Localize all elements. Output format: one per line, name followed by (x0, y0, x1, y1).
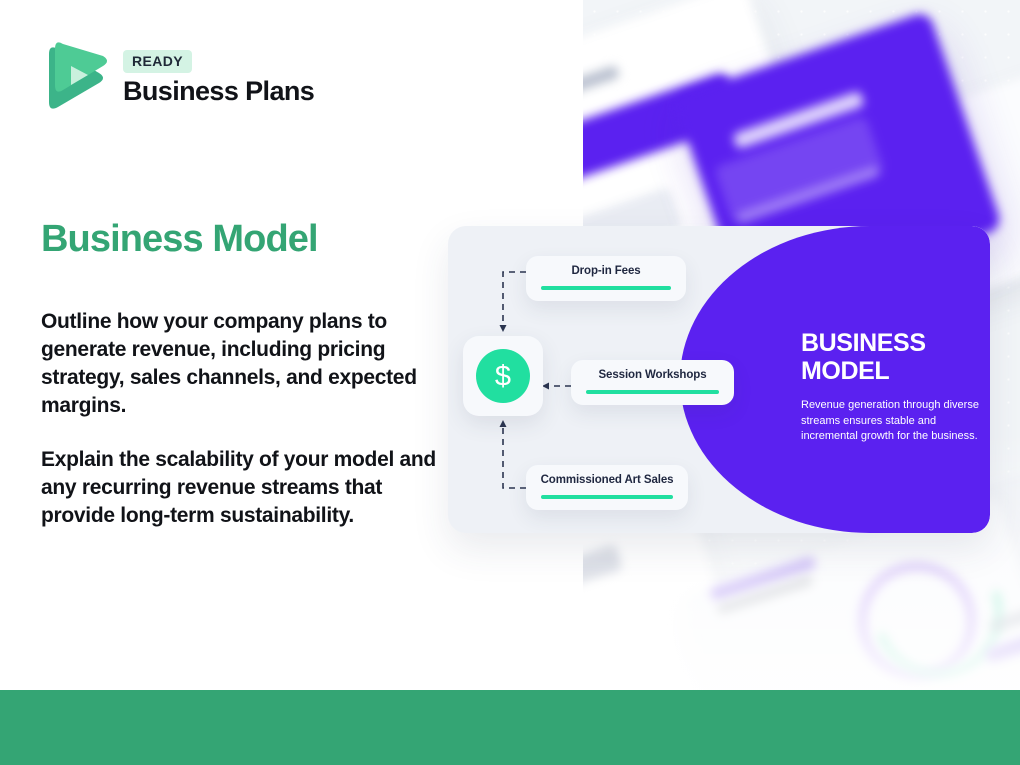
revenue-stream-node[interactable]: Commissioned Art Sales (526, 465, 688, 510)
body-paragraph-1: Outline how your company plans to genera… (41, 308, 441, 420)
page-title: Business Model (41, 218, 318, 261)
bottom-accent-bar (0, 690, 1020, 765)
business-model-diagram-card: BUSINESS MODEL Revenue generation throug… (448, 226, 990, 533)
node-label: Drop-in Fees (540, 265, 672, 277)
play-triangle-logo-icon (41, 38, 107, 118)
brand-logo-block: READY Business Plans (41, 38, 314, 118)
node-label: Session Workshops (585, 369, 720, 381)
svg-text:$: $ (495, 361, 511, 393)
purple-panel-description: Revenue generation through diverse strea… (801, 398, 989, 445)
brand-name: Business Plans (123, 77, 314, 107)
dollar-sign-icon: $ (476, 349, 530, 403)
revenue-stream-node[interactable]: Drop-in Fees (526, 256, 686, 301)
brand-text-group: READY Business Plans (123, 50, 314, 107)
revenue-stream-node[interactable]: Session Workshops (571, 360, 734, 405)
node-label: Commissioned Art Sales (540, 474, 674, 486)
revenue-center-node[interactable]: $ (463, 336, 543, 416)
node-accent-bar (541, 286, 671, 290)
node-accent-bar (541, 495, 673, 499)
ready-badge: READY (123, 50, 192, 73)
body-paragraph-2: Explain the scalability of your model an… (41, 446, 441, 530)
node-accent-bar (586, 390, 719, 394)
purple-panel-title: BUSINESS MODEL (801, 329, 986, 385)
